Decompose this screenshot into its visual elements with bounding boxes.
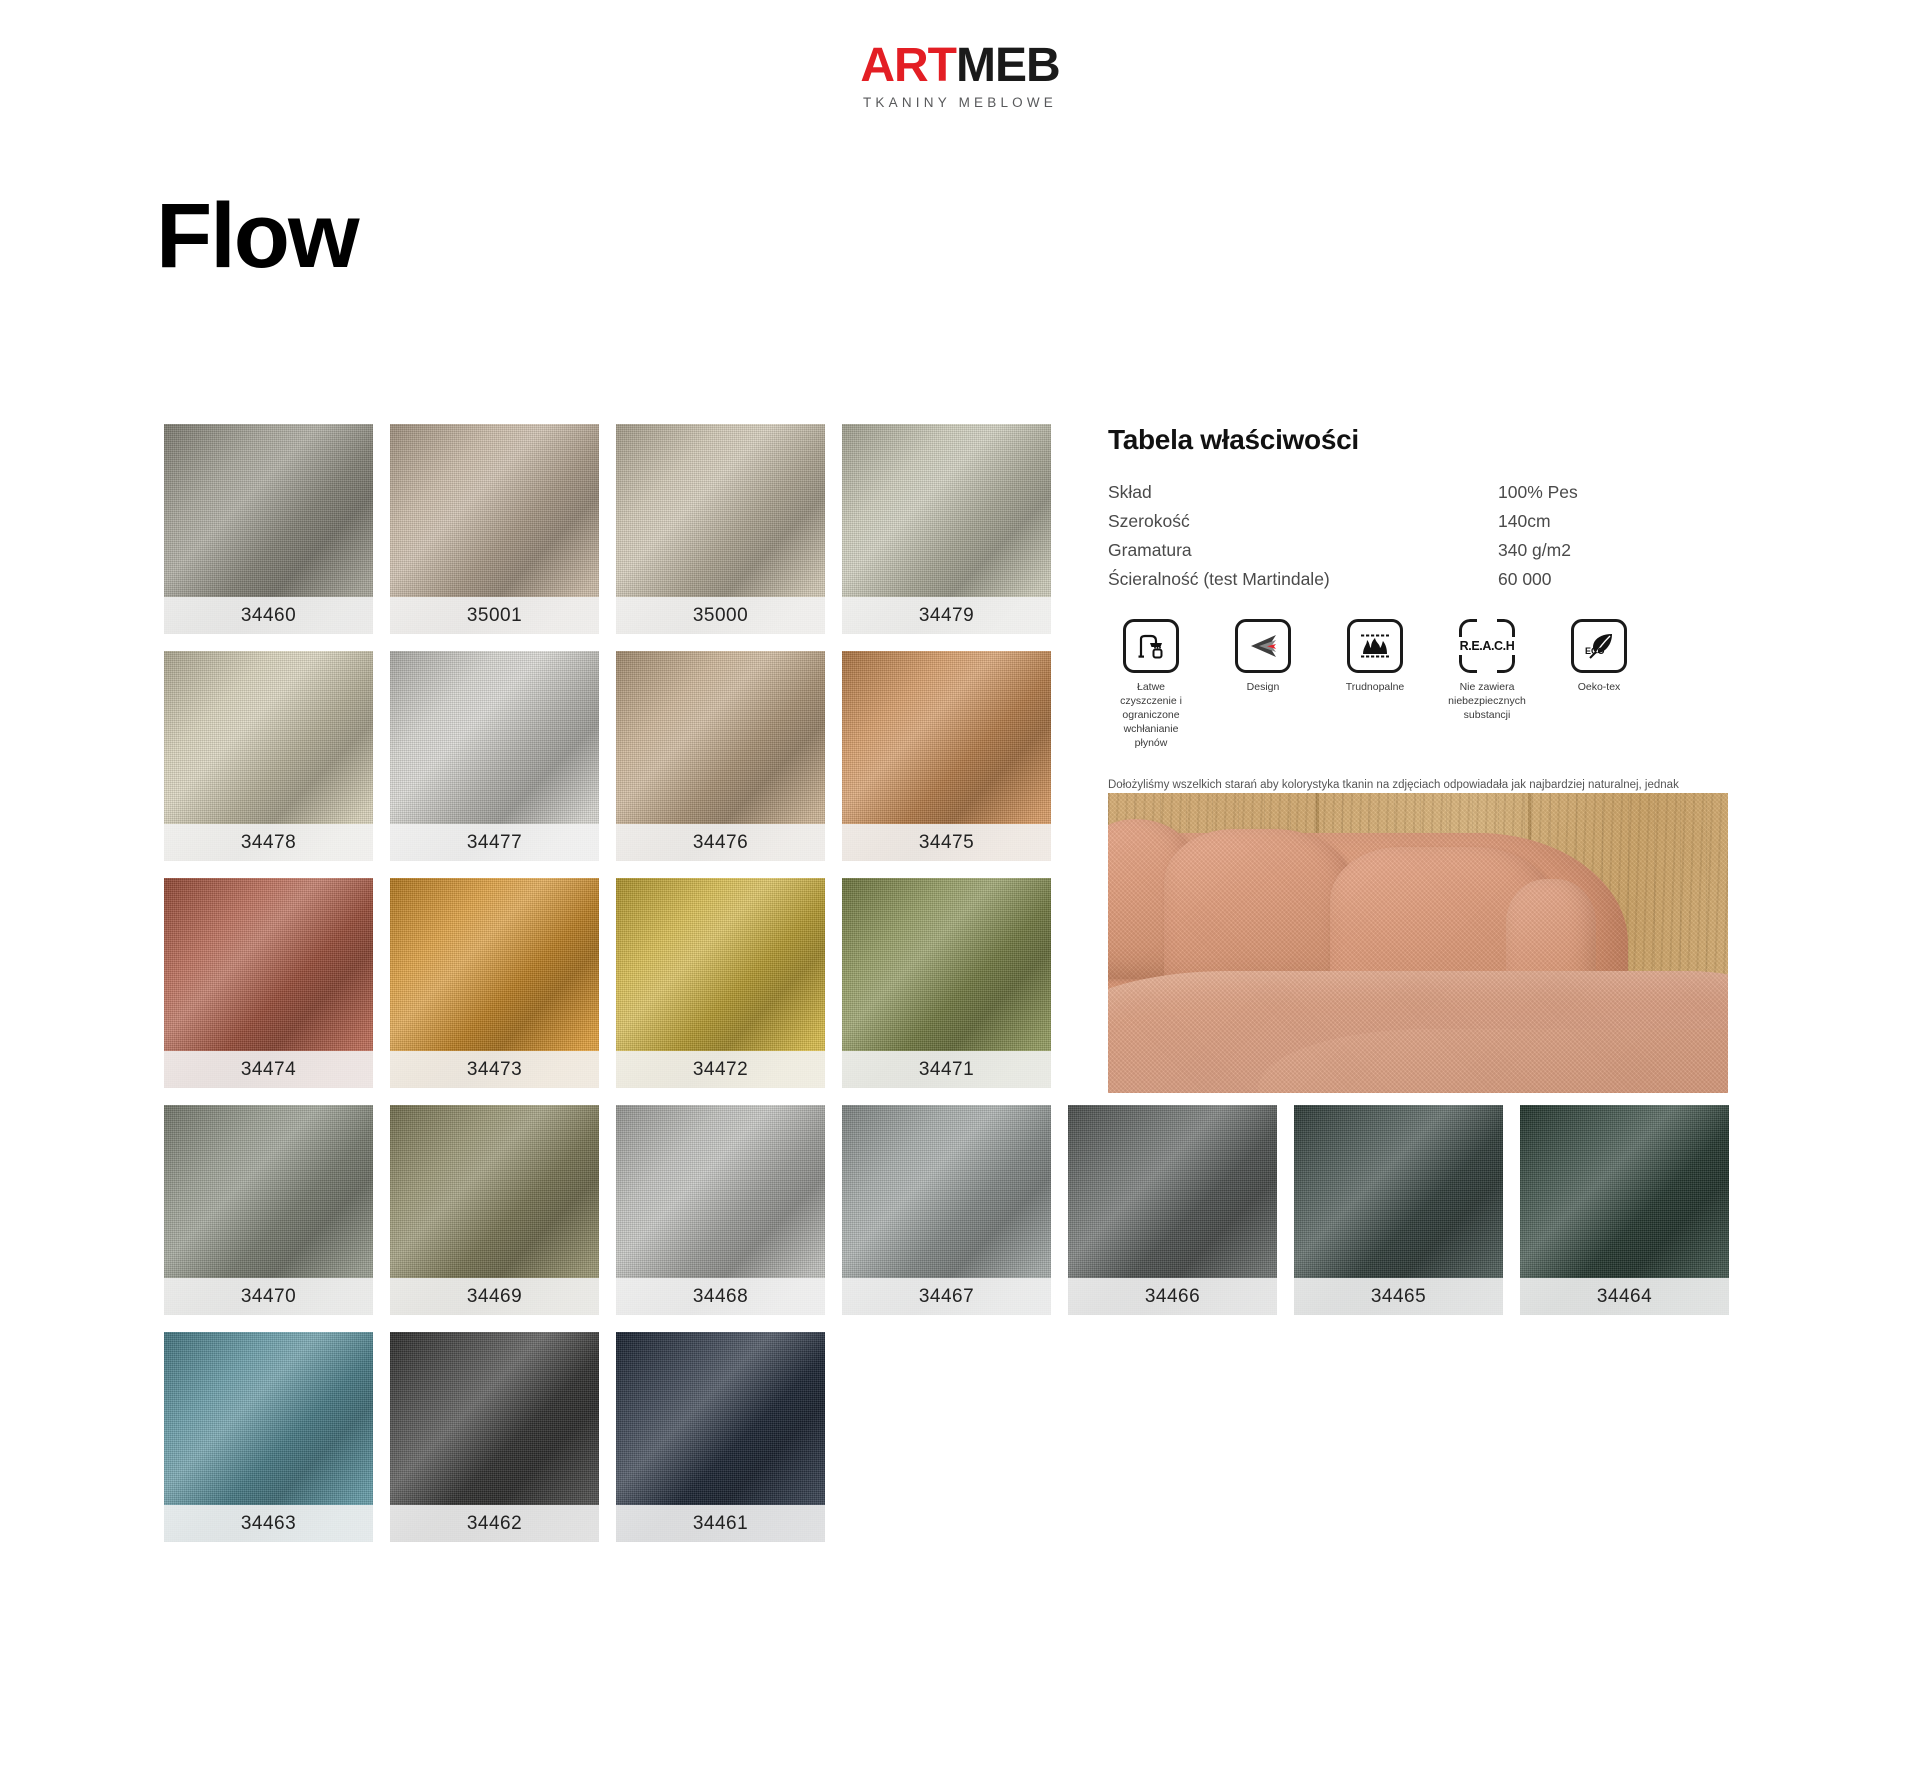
property-value: 100% Pes [1498, 478, 1728, 507]
swatch-34461[interactable]: 34461 [616, 1332, 825, 1542]
certification-reach: R.E.A.C.H Nie zawiera niebezpiecznych su… [1444, 619, 1530, 750]
swatch-34477[interactable]: 34477 [390, 651, 599, 861]
swatch-34479[interactable]: 34479 [842, 424, 1051, 634]
swatch-34472[interactable]: 34472 [616, 878, 825, 1088]
properties-heading: Tabela właściwości [1108, 424, 1728, 456]
logo-text-art: ART [860, 42, 956, 90]
swatch-34471[interactable]: 34471 [842, 878, 1051, 1088]
table-row: Ścieralność (test Martindale) 60 000 [1108, 565, 1728, 594]
catalog-page: ARTMEB TKANINY MEBLOWE Flow 34460 35001 … [0, 0, 1920, 1768]
swatch-34473[interactable]: 34473 [390, 878, 599, 1088]
certification-oeko-tex: ECO Oeko-tex [1556, 619, 1642, 750]
swatch-code: 34462 [390, 1505, 599, 1542]
property-label: Ścieralność (test Martindale) [1108, 565, 1498, 594]
certification-flame-retardant: Trudnopalne [1332, 619, 1418, 750]
swatch-code: 34475 [842, 824, 1051, 861]
swatch-code: 34477 [390, 824, 599, 861]
sofa-cushion [1164, 829, 1354, 989]
swatch-code: 34478 [164, 824, 373, 861]
certification-icons: Łatwe czyszczenie i ograniczone wchłania… [1108, 619, 1728, 750]
swatch-code: 34466 [1068, 1278, 1277, 1315]
table-row: Skład 100% Pes [1108, 478, 1728, 507]
swatch-code: 35000 [616, 597, 825, 634]
swatch-code: 34476 [616, 824, 825, 861]
logo-text-meb: MEB [956, 42, 1060, 90]
swatch-34474[interactable]: 34474 [164, 878, 373, 1088]
certification-caption: Nie zawiera niebezpiecznych substancji [1444, 681, 1530, 723]
design-icon [1235, 619, 1291, 673]
swatch-row: 34470 34469 34468 34467 34466 34465 3446… [164, 1105, 1746, 1315]
properties-table: Skład 100% Pes Szerokość 140cm Gramatura… [1108, 478, 1728, 593]
swatch-code: 34470 [164, 1278, 373, 1315]
swatch-34476[interactable]: 34476 [616, 651, 825, 861]
oeko-tex-leaf-icon: ECO [1571, 619, 1627, 673]
svg-text:ECO: ECO [1585, 646, 1605, 656]
property-label: Skład [1108, 478, 1498, 507]
property-value: 140cm [1498, 507, 1728, 536]
swatch-34469[interactable]: 34469 [390, 1105, 599, 1315]
flame-retardant-icon [1347, 619, 1403, 673]
reach-icon: R.E.A.C.H [1459, 619, 1515, 673]
swatch-34475[interactable]: 34475 [842, 651, 1051, 861]
certification-design: Design [1220, 619, 1306, 750]
logo-wordmark: ARTMEB [0, 42, 1920, 90]
certification-caption: Design [1220, 681, 1306, 695]
swatch-34467[interactable]: 34467 [842, 1105, 1051, 1315]
property-value: 60 000 [1498, 565, 1728, 594]
swatch-code: 34469 [390, 1278, 599, 1315]
property-label: Gramatura [1108, 536, 1498, 565]
brand-logo: ARTMEB TKANINY MEBLOWE [0, 42, 1920, 110]
swatch-code: 34479 [842, 597, 1051, 634]
swatch-code: 34464 [1520, 1278, 1729, 1315]
property-label: Szerokość [1108, 507, 1498, 536]
logo-tagline: TKANINY MEBLOWE [0, 95, 1920, 110]
swatch-34466[interactable]: 34466 [1068, 1105, 1277, 1315]
swatch-code: 35001 [390, 597, 599, 634]
swatch-code: 34468 [616, 1278, 825, 1315]
swatch-34478[interactable]: 34478 [164, 651, 373, 861]
swatch-code: 34465 [1294, 1278, 1503, 1315]
swatch-34464[interactable]: 34464 [1520, 1105, 1729, 1315]
swatch-code: 34461 [616, 1505, 825, 1542]
swatch-34465[interactable]: 34465 [1294, 1105, 1503, 1315]
swatch-code: 34467 [842, 1278, 1051, 1315]
swatch-35001[interactable]: 35001 [390, 424, 599, 634]
certification-easy-clean: Łatwe czyszczenie i ograniczone wchłania… [1108, 619, 1194, 750]
swatch-code: 34471 [842, 1051, 1051, 1088]
property-value: 340 g/m2 [1498, 536, 1728, 565]
certification-caption: Trudnopalne [1332, 681, 1418, 695]
swatch-34470[interactable]: 34470 [164, 1105, 373, 1315]
lifestyle-photo [1108, 793, 1728, 1093]
swatch-34463[interactable]: 34463 [164, 1332, 373, 1542]
page-title: Flow [156, 190, 358, 282]
easy-clean-icon [1123, 619, 1179, 673]
certification-caption: Oeko-tex [1556, 681, 1642, 695]
swatch-34460[interactable]: 34460 [164, 424, 373, 634]
swatch-code: 34472 [616, 1051, 825, 1088]
certification-caption: Łatwe czyszczenie i ograniczone wchłania… [1108, 681, 1194, 750]
swatch-code: 34473 [390, 1051, 599, 1088]
table-row: Szerokość 140cm [1108, 507, 1728, 536]
swatch-row: 34463 34462 34461 [164, 1332, 1746, 1542]
swatch-35000[interactable]: 35000 [616, 424, 825, 634]
swatch-34462[interactable]: 34462 [390, 1332, 599, 1542]
swatch-code: 34474 [164, 1051, 373, 1088]
swatch-code: 34463 [164, 1505, 373, 1542]
table-row: Gramatura 340 g/m2 [1108, 536, 1728, 565]
properties-panel: Tabela właściwości Skład 100% Pes Szerok… [1108, 424, 1728, 844]
swatch-34468[interactable]: 34468 [616, 1105, 825, 1315]
swatch-code: 34460 [164, 597, 373, 634]
